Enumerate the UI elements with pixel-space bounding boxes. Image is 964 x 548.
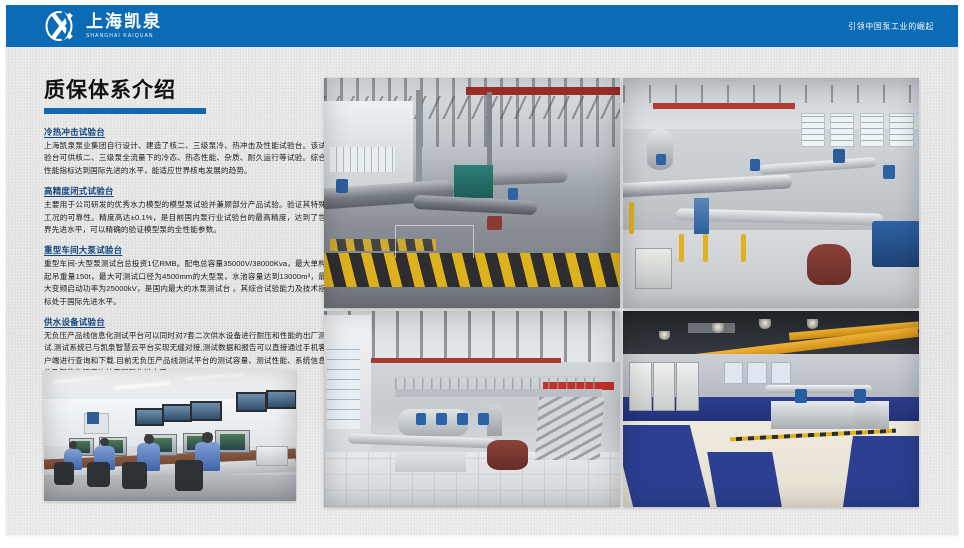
section-heading: 供水设备试验台 bbox=[44, 316, 326, 329]
section-body: 上海凯泉泵业集团自行设计、建造了核二、三级泵冷、热冲击及性能试验台。该试验台可供… bbox=[44, 140, 326, 177]
section-heading: 冷热冲击试验台 bbox=[44, 126, 326, 139]
slide-root: 上海凯泉 SHANGHAI KAIQUAN 引领中国泵工业的崛起 质保体系介绍 … bbox=[0, 0, 964, 548]
brand-text: 上海凯泉 SHANGHAI KAIQUAN bbox=[86, 13, 162, 40]
section-item: 重型车间大泵试验台 重型车间-大型泵测试台总投资1亿RMB。配电总容量35000… bbox=[44, 244, 326, 308]
section-list: 冷热冲击试验台 上海凯泉泵业集团自行设计、建造了核二、三级泵冷、热冲击及性能试验… bbox=[44, 126, 326, 380]
content-left-column: 质保体系介绍 冷热冲击试验台 上海凯泉泵业集团自行设计、建造了核二、三级泵冷、热… bbox=[44, 78, 326, 388]
photo-heavy-pump-test-hall bbox=[324, 78, 620, 308]
header-slogan: 引领中国泵工业的崛起 bbox=[848, 5, 934, 47]
brand-name-en: SHANGHAI KAIQUAN bbox=[86, 32, 162, 40]
section-heading: 重型车间大泵试验台 bbox=[44, 244, 326, 257]
page-title: 质保体系介绍 bbox=[44, 78, 326, 104]
section-body: 重型车间-大型泵测试台总投资1亿RMB。配电总容量35000V/38000Kva… bbox=[44, 258, 326, 308]
brand-name-cn: 上海凯泉 bbox=[86, 13, 162, 31]
photo-large-pump-workshop bbox=[324, 311, 620, 507]
title-underline bbox=[44, 108, 206, 114]
section-item: 冷热冲击试验台 上海凯泉泵业集团自行设计、建造了核二、三级泵冷、热冲击及性能试验… bbox=[44, 126, 326, 177]
brand-logo[interactable]: 上海凯泉 SHANGHAI KAIQUAN bbox=[44, 10, 162, 42]
header-bar: 上海凯泉 SHANGHAI KAIQUAN 引领中国泵工业的崛起 bbox=[6, 5, 958, 47]
photo-control-room bbox=[44, 370, 296, 501]
photo-water-supply-test-bench bbox=[623, 311, 919, 507]
section-heading: 高精度闭式试验台 bbox=[44, 185, 326, 198]
photo-closed-loop-test-rig bbox=[623, 78, 919, 308]
section-body: 主要用于公司研发的优秀水力模型的模型泵试验并兼顾部分产品试验。验证其特殊工况的可… bbox=[44, 199, 326, 236]
kaiquan-logo-icon bbox=[44, 10, 80, 42]
section-item: 高精度闭式试验台 主要用于公司研发的优秀水力模型的模型泵试验并兼顾部分产品试验。… bbox=[44, 185, 326, 236]
